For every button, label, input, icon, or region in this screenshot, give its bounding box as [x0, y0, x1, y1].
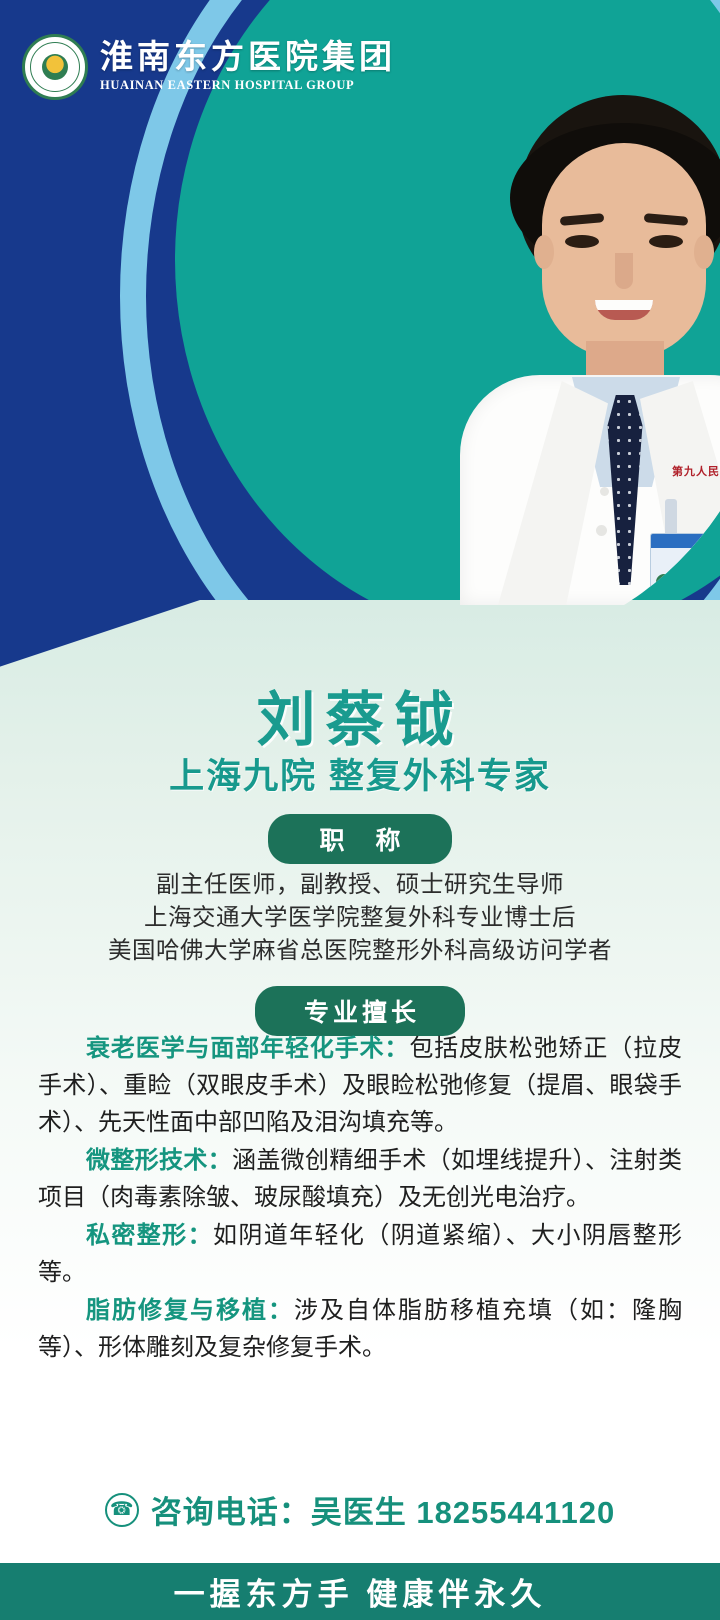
specialty-item: 微整形技术：涵盖微创精细手术（如埋线提升）、注射类项目（肉毒素除皱、玻尿酸填充）… — [38, 1142, 682, 1216]
portrait-coat-button — [596, 525, 607, 536]
portrait-id-badge-seal-icon — [656, 574, 672, 590]
portrait-id-badge — [650, 533, 706, 601]
contact-line[interactable]: ☎ 咨询电话：吴医生 18255441120 — [0, 1487, 720, 1532]
portrait-id-badge-header — [651, 534, 705, 548]
emblem-core-icon — [42, 54, 68, 80]
footer-slogan: 一握东方手 健康伴永久 — [174, 1569, 547, 1614]
specialties-list: 衰老医学与面部年轻化手术：包括皮肤松弛矫正（拉皮手术）、重睑（双眼皮手术）及眼睑… — [38, 1030, 682, 1367]
specialty-label: 衰老医学与面部年轻化手术： — [86, 1035, 409, 1062]
portrait-ear-right — [694, 235, 714, 269]
credential-item: 副主任医师，副教授、硕士研究生导师 — [0, 868, 720, 901]
org-name-en: HUAINAN EASTERN HOSPITAL GROUP — [100, 78, 396, 93]
portrait-badge-clip — [665, 499, 677, 537]
specialty-item: 衰老医学与面部年轻化手术：包括皮肤松弛矫正（拉皮手术）、重睑（双眼皮手术）及眼睑… — [38, 1030, 682, 1141]
phone-icon: ☎ — [105, 1493, 139, 1527]
contact-text: 咨询电话：吴医生 18255441120 — [151, 1487, 616, 1532]
credential-item: 美国哈佛大学麻省总医院整形外科高级访问学者 — [0, 934, 720, 967]
specialty-label: 微整形技术： — [86, 1147, 232, 1174]
credentials-list: 副主任医师，副教授、硕士研究生导师 上海交通大学医学院整复外科专业博士后 美国哈… — [0, 868, 720, 967]
doctor-name: 刘蔡钺 — [0, 672, 720, 757]
portrait-face — [542, 143, 706, 358]
specialty-label: 私密整形： — [86, 1222, 213, 1249]
portrait-eye-right — [649, 235, 683, 248]
portrait-coat-button-top — [600, 487, 609, 496]
hero-banner: 第九人民院 淮南东方医院集团 HUAINAN EASTERN HOSPITAL … — [0, 0, 720, 640]
portrait-id-badge-photo — [680, 567, 700, 595]
portrait-teeth — [595, 300, 653, 310]
footer-banner: 一握东方手 健康伴永久 — [0, 1563, 720, 1620]
section-heading-specialties: 专业擅长 — [255, 986, 465, 1036]
hospital-emblem-icon — [22, 34, 88, 100]
panel-wedge-blue — [0, 600, 380, 680]
section-heading-title: 职 称 — [268, 814, 452, 864]
portrait-coat-label: 第九人民院 — [672, 463, 720, 477]
portrait-eye-left — [565, 235, 599, 248]
hospital-logo: 淮南东方医院集团 HUAINAN EASTERN HOSPITAL GROUP — [22, 34, 396, 100]
doctor-subtitle: 上海九院 整复外科专家 — [0, 748, 720, 799]
specialty-label: 脂肪修复与移植： — [86, 1297, 294, 1324]
logo-text-block: 淮南东方医院集团 HUAINAN EASTERN HOSPITAL GROUP — [100, 41, 396, 94]
specialty-item: 脂肪修复与移植：涉及自体脂肪移植充填（如：隆胸等）、形体雕刻及复杂修复手术。 — [38, 1292, 682, 1366]
portrait-ear-left — [534, 235, 554, 269]
specialty-item: 私密整形：如阴道年轻化（阴道紧缩）、大小阴唇整形等。 — [38, 1217, 682, 1291]
credential-item: 上海交通大学医学院整复外科专业博士后 — [0, 901, 720, 934]
org-name-cn: 淮南东方医院集团 — [100, 41, 396, 76]
portrait-nose — [615, 253, 633, 289]
poster-root: 第九人民院 淮南东方医院集团 HUAINAN EASTERN HOSPITAL … — [0, 0, 720, 1620]
doctor-portrait: 第九人民院 — [450, 95, 720, 595]
